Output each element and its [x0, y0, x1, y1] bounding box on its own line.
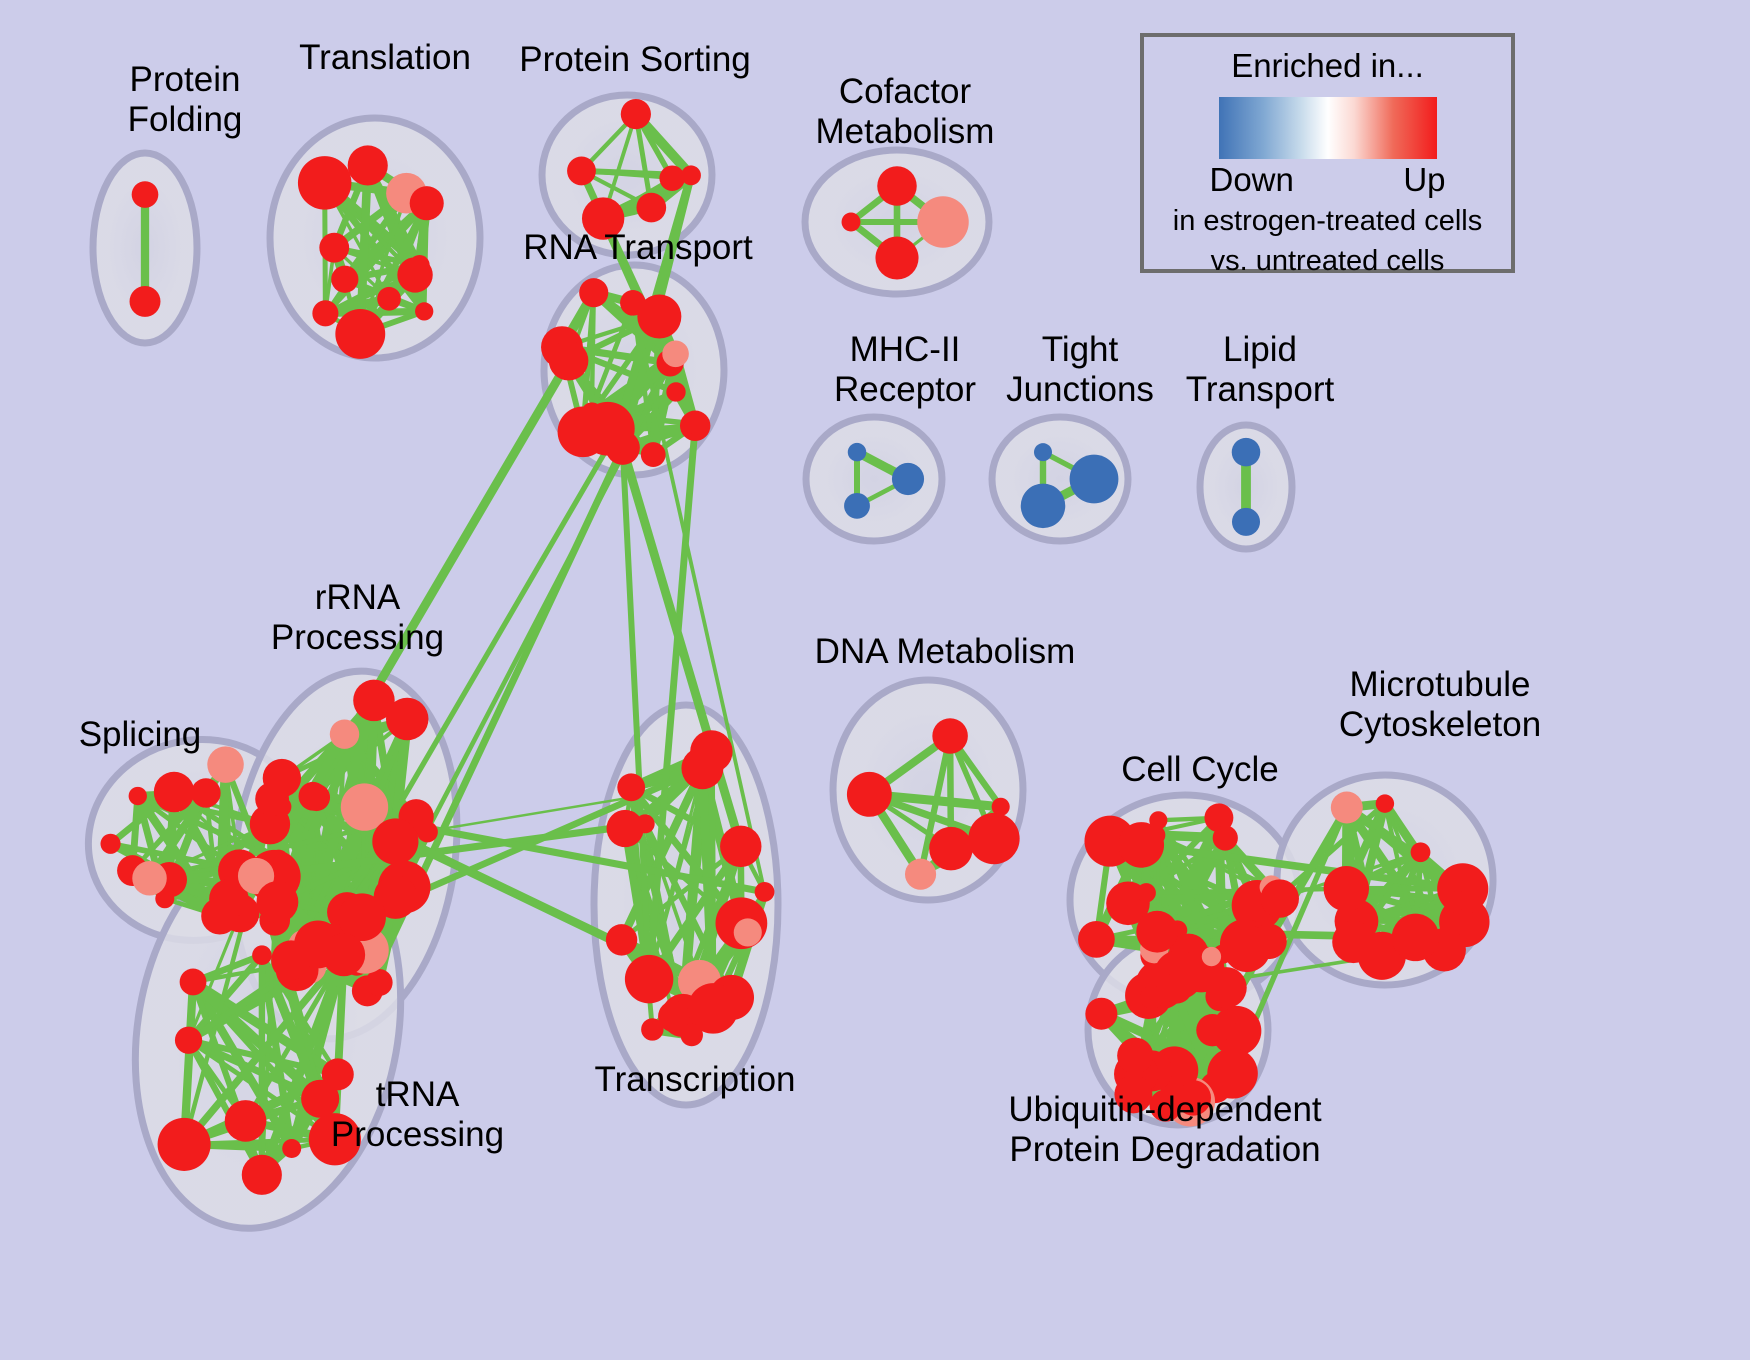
cluster-label-rrna-processing: rRNA Processing: [250, 578, 465, 658]
cluster-label-tight-junctions: Tight Junctions: [985, 330, 1175, 410]
network-node: [271, 940, 311, 980]
network-node: [1070, 455, 1119, 504]
network-node: [397, 257, 432, 292]
cluster-label-transcription: Transcription: [570, 1060, 820, 1100]
network-node: [848, 443, 866, 461]
network-node: [720, 826, 761, 867]
legend-low-label: Down: [1210, 161, 1294, 199]
legend-caption-line2: vs. untreated cells: [1144, 243, 1511, 279]
network-node: [1376, 794, 1394, 812]
network-node: [681, 747, 723, 789]
network-node: [1221, 1022, 1239, 1040]
cluster-label-microtubule-cytoskeleton: Microtubule Cytoskeleton: [1300, 665, 1580, 745]
network-node: [917, 196, 969, 248]
network-figure: Protein FoldingTranslationProtein Sortin…: [0, 0, 1750, 1360]
network-node: [330, 719, 359, 748]
cluster-label-translation: Translation: [270, 38, 500, 78]
network-node: [1034, 443, 1052, 461]
legend-gradient-bar: [1219, 97, 1437, 159]
network-node: [1206, 967, 1247, 1008]
cluster-label-cell-cycle: Cell Cycle: [1090, 750, 1310, 790]
network-node: [132, 181, 159, 208]
network-node: [641, 1018, 663, 1040]
network-node: [1232, 508, 1260, 536]
network-node: [606, 924, 637, 955]
network-node: [905, 859, 936, 890]
network-node: [130, 286, 161, 317]
network-node: [892, 463, 924, 495]
network-node: [636, 193, 666, 223]
network-node: [191, 778, 221, 808]
network-node: [252, 945, 272, 965]
network-node: [932, 718, 968, 754]
network-node: [875, 236, 918, 279]
network-node: [372, 818, 418, 864]
network-node: [844, 493, 870, 519]
network-node: [335, 309, 385, 359]
cluster-label-dna-metabolism: DNA Metabolism: [805, 632, 1085, 672]
network-node: [1117, 1038, 1153, 1074]
network-node: [1223, 925, 1270, 972]
network-node: [662, 340, 689, 367]
network-node: [1332, 921, 1374, 963]
network-node: [225, 1100, 267, 1142]
network-node: [1324, 866, 1369, 911]
legend-panel: Enriched in... Down Up in estrogen-treat…: [1140, 33, 1515, 273]
network-node: [1136, 911, 1178, 953]
legend-high-label: Up: [1403, 161, 1445, 199]
network-node: [992, 798, 1010, 816]
network-node: [271, 797, 291, 817]
network-node: [319, 233, 349, 263]
network-node: [348, 145, 388, 185]
network-node: [621, 99, 651, 129]
network-node: [1411, 842, 1431, 862]
network-node: [637, 295, 681, 339]
network-node: [877, 166, 917, 206]
network-node: [386, 698, 428, 740]
network-node: [1202, 947, 1221, 966]
network-node: [929, 827, 973, 871]
network-node: [201, 897, 238, 934]
network-node: [734, 918, 762, 946]
network-node: [1137, 883, 1156, 902]
network-node: [1448, 891, 1467, 910]
network-node: [1213, 825, 1238, 850]
network-node: [680, 1024, 702, 1046]
network-node: [322, 933, 365, 976]
network-node: [132, 861, 167, 896]
network-node: [1085, 998, 1117, 1030]
network-node: [256, 881, 298, 923]
cluster-label-lipid-transport: Lipid Transport: [1165, 330, 1355, 410]
cluster-label-ubiquitin-protein-degradation: Ubiquitin-dependent Protein Degradation: [975, 1090, 1355, 1170]
network-node: [617, 773, 645, 801]
network-node: [968, 813, 1019, 864]
network-node: [312, 300, 338, 326]
network-node: [1021, 484, 1066, 529]
network-node: [303, 784, 330, 811]
network-node: [377, 287, 401, 311]
network-node: [242, 1155, 282, 1195]
network-node: [100, 834, 120, 854]
network-node: [282, 1139, 301, 1158]
network-node: [1161, 973, 1192, 1004]
network-node: [1232, 438, 1261, 467]
network-node: [417, 821, 438, 842]
legend-endpoints: Down Up: [1210, 161, 1446, 199]
network-node: [1078, 921, 1115, 958]
network-node: [567, 157, 596, 186]
network-node: [410, 186, 444, 220]
legend-title: Enriched in...: [1144, 47, 1511, 85]
network-node: [298, 156, 352, 210]
network-node: [1146, 825, 1166, 845]
cluster-label-mhc-ii-receptor: MHC-II Receptor: [795, 330, 1015, 410]
cluster-label-cofactor-metabolism: Cofactor Metabolism: [790, 72, 1020, 152]
network-node: [636, 814, 655, 833]
network-node: [625, 955, 673, 1003]
network-node: [247, 862, 266, 881]
network-node: [641, 442, 666, 467]
network-node: [175, 1027, 202, 1054]
network-node: [847, 772, 892, 817]
cluster-label-rna-transport: RNA Transport: [498, 228, 778, 268]
cluster-label-protein-folding: Protein Folding: [85, 60, 285, 140]
network-node: [685, 414, 706, 435]
cluster-label-protein-sorting: Protein Sorting: [500, 40, 770, 80]
network-node: [331, 266, 358, 293]
network-node: [1261, 879, 1299, 917]
network-node: [158, 1118, 211, 1171]
network-node: [755, 882, 775, 902]
network-node: [1331, 792, 1363, 824]
network-node: [415, 302, 433, 320]
network-node: [154, 772, 194, 812]
cluster-label-splicing: Splicing: [55, 715, 225, 755]
network-node: [666, 382, 685, 401]
network-node: [842, 213, 861, 232]
network-node: [180, 969, 207, 996]
legend-caption-line1: in estrogen-treated cells: [1144, 203, 1511, 239]
network-node: [579, 278, 608, 307]
network-node: [129, 787, 147, 805]
network-node: [263, 759, 301, 797]
cluster-label-trna-processing: tRNA Processing: [310, 1075, 525, 1155]
network-node: [659, 165, 685, 191]
network-node: [549, 341, 589, 381]
network-node: [1392, 914, 1439, 961]
network-node: [558, 406, 609, 457]
